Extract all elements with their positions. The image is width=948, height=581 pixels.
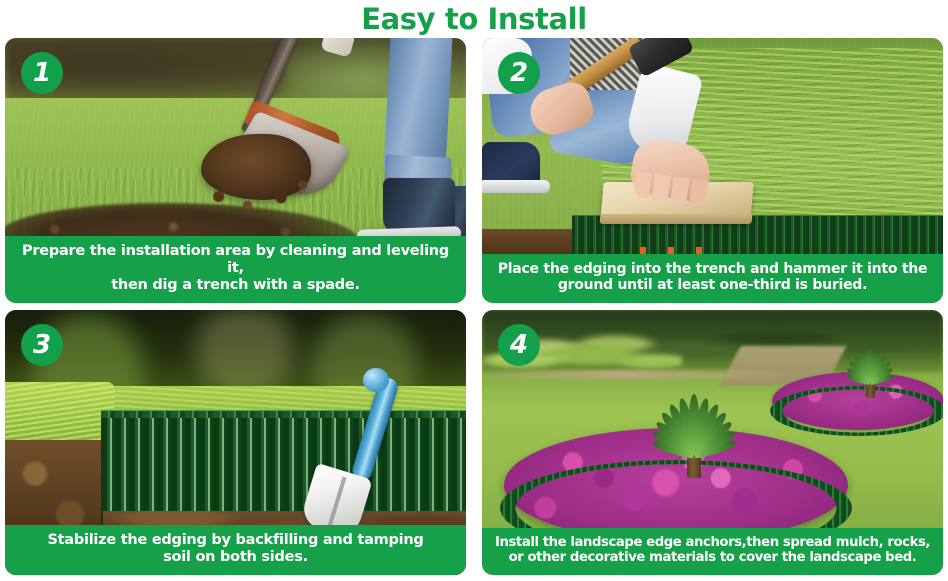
title-bar: Easy to Install bbox=[0, 0, 948, 38]
edging-ring-small bbox=[770, 386, 943, 436]
jeans-leg bbox=[383, 38, 452, 174]
step-caption-3: Stabilize the edging by backfilling and … bbox=[5, 525, 466, 575]
step-number-badge-4: 4 bbox=[498, 324, 540, 366]
trowel-grip-knob bbox=[363, 368, 389, 392]
agave-leaf bbox=[689, 394, 700, 454]
edging-top-rail bbox=[101, 410, 466, 418]
step-number-badge-1: 1 bbox=[21, 52, 63, 94]
step-caption-2: Place the edging into the trench and ham… bbox=[482, 254, 943, 303]
step-number-badge-2: 2 bbox=[498, 52, 540, 94]
step-panel-1: 1 Prepare the installation area by clean… bbox=[5, 38, 466, 303]
shoe-sole bbox=[482, 180, 550, 193]
agave-leaf bbox=[867, 348, 874, 382]
falling-soil-clumps bbox=[197, 156, 317, 214]
easy-to-install-infographic: Easy to Install bbox=[0, 0, 948, 581]
step-panel-2: 2 Place the edging into the trench and h… bbox=[482, 38, 943, 303]
step-caption-4: Install the landscape edge anchors,then … bbox=[482, 528, 943, 575]
wood-board-edge bbox=[600, 214, 753, 224]
grass-left-cutaway bbox=[5, 382, 115, 448]
agave-plant-small bbox=[832, 334, 908, 388]
steps-grid: 1 Prepare the installation area by clean… bbox=[5, 38, 943, 575]
step-panel-4: 4 Install the landscape edge anchors,the… bbox=[482, 310, 943, 575]
agave-plant-large bbox=[628, 364, 760, 460]
page-title: Easy to Install bbox=[361, 5, 587, 34]
step-panel-3: 3 Stabilize the edging by backfilling an… bbox=[5, 310, 466, 575]
step-caption-1: Prepare the installation area by cleanin… bbox=[5, 236, 466, 303]
step-number-badge-3: 3 bbox=[21, 324, 63, 366]
